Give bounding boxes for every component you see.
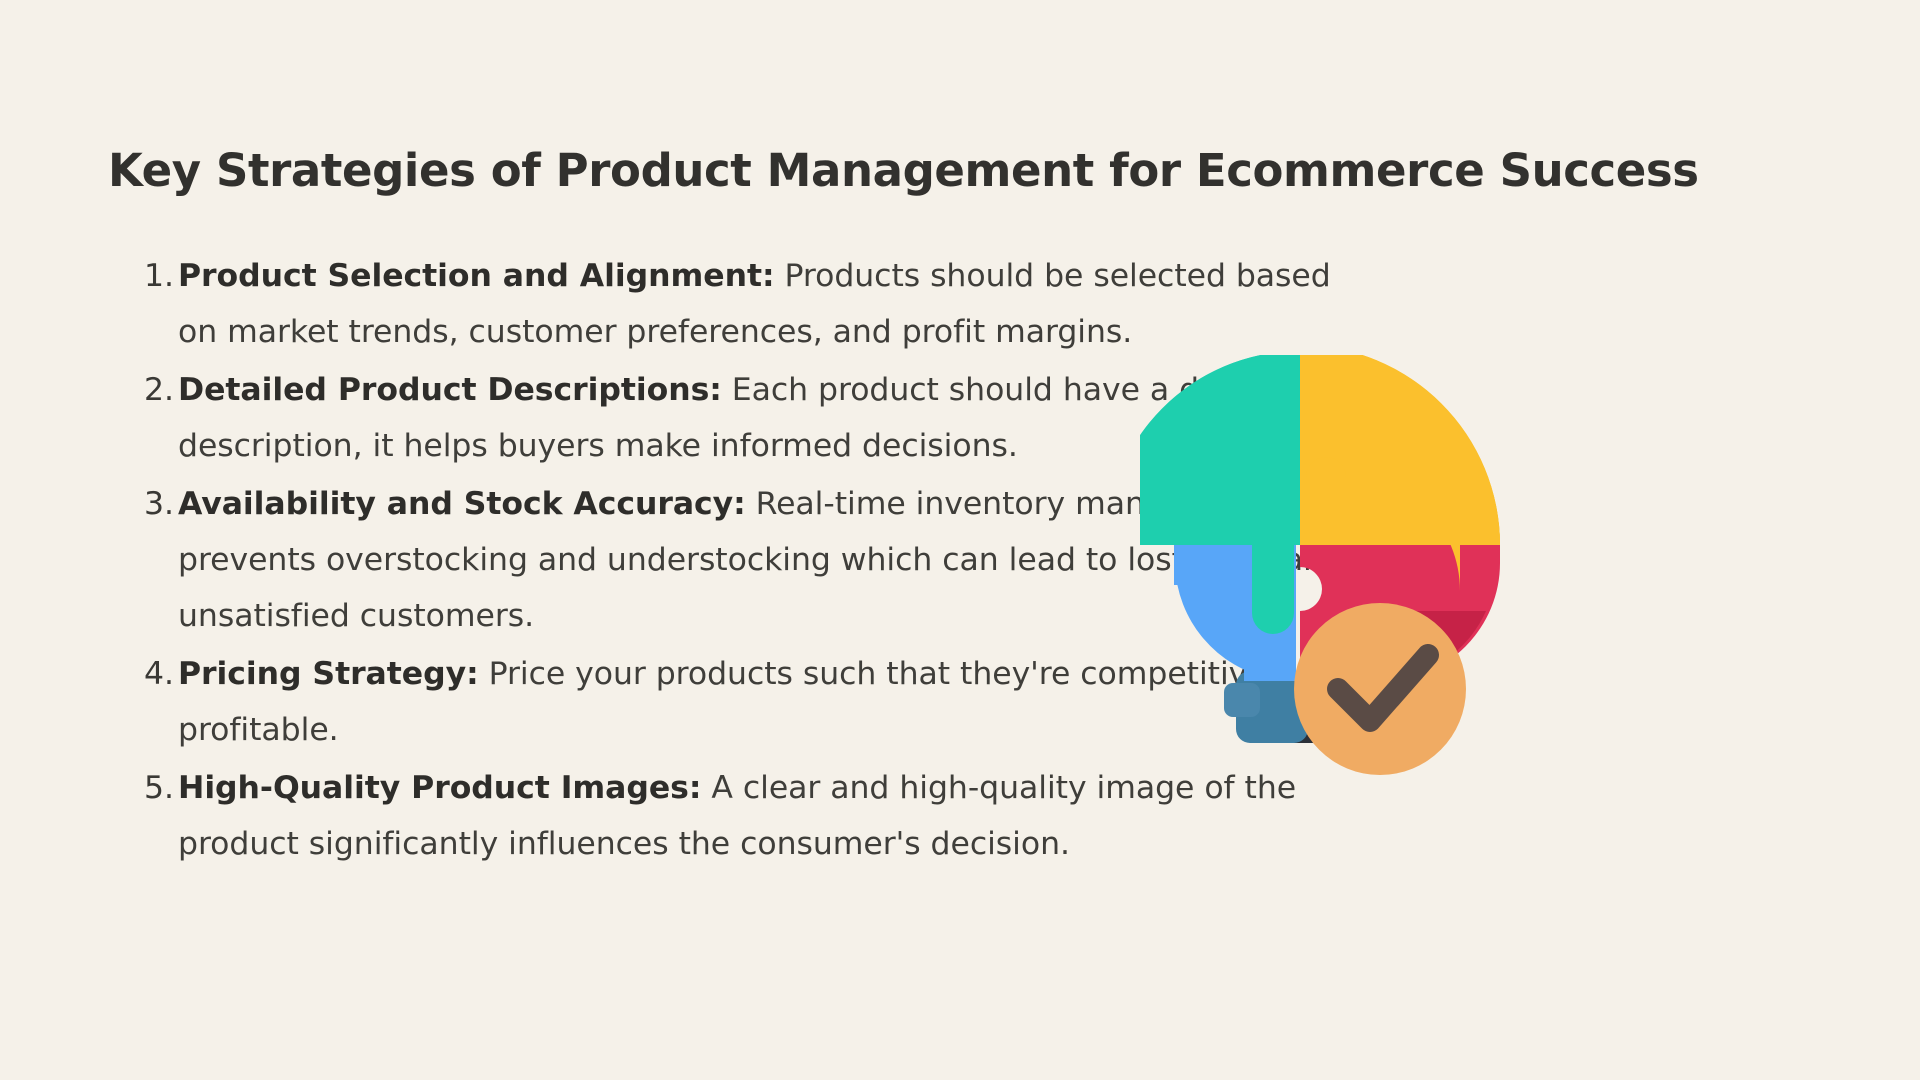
list-item-number: 2.	[132, 362, 178, 418]
list-item-lead: High-Quality Product Images:	[178, 770, 701, 806]
bulb-base-tab	[1224, 683, 1260, 717]
list-item-number: 4.	[132, 646, 178, 702]
teal-piece-tongue	[1252, 545, 1294, 634]
lightbulb-puzzle-illustration	[1140, 355, 1560, 815]
list-item: 1. Product Selection and Alignment: Prod…	[132, 248, 1367, 360]
list-item-number: 3.	[132, 476, 178, 532]
teal-piece-notch	[1140, 355, 1296, 545]
check-circle	[1294, 603, 1466, 775]
list-item-lead: Detailed Product Descriptions:	[178, 372, 722, 408]
poster-canvas: Key Strategies of Product Management for…	[0, 0, 1920, 1080]
list-item-lead: Pricing Strategy:	[178, 656, 479, 692]
list-item-number: 1.	[132, 248, 178, 304]
list-item-number: 5.	[132, 760, 178, 816]
page-title: Key Strategies of Product Management for…	[108, 146, 1808, 196]
list-item-lead: Product Selection and Alignment:	[178, 258, 775, 294]
list-item-lead: Availability and Stock Accuracy:	[178, 486, 746, 522]
list-item-body: Product Selection and Alignment: Product…	[178, 248, 1367, 360]
check-badge	[1294, 603, 1466, 775]
